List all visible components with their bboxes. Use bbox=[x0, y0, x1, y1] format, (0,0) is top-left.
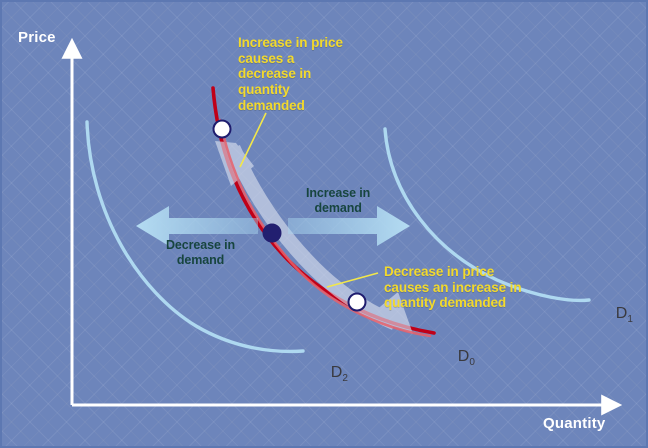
x-axis-label: Quantity bbox=[543, 415, 605, 432]
callout-decrease-in-price: Decrease in price causes an increase in … bbox=[384, 264, 521, 311]
curve-label-D1-sub: 1 bbox=[627, 314, 633, 325]
label-increase-in-demand: Increase in demand bbox=[306, 186, 370, 215]
point-lower bbox=[349, 294, 366, 311]
curve-label-D0-sub: 0 bbox=[469, 357, 475, 368]
y-axis-label: Price bbox=[18, 29, 56, 46]
label-decrease-in-demand: Decrease in demand bbox=[166, 238, 235, 267]
curve-label-D1-letter: D bbox=[616, 305, 628, 322]
point-equilibrium bbox=[263, 224, 281, 242]
point-upper bbox=[214, 121, 231, 138]
curve-label-D0-letter: D bbox=[458, 348, 470, 365]
leader-line-upper bbox=[240, 113, 266, 167]
demand-curve-figure: Price Quantity Increase in price causes … bbox=[0, 0, 648, 448]
callout-increase-in-price: Increase in price causes a decrease in q… bbox=[238, 35, 343, 113]
curve-label-D0: D0 bbox=[440, 329, 475, 387]
curve-label-D1: D1 bbox=[598, 286, 633, 344]
curve-label-D2-sub: 2 bbox=[342, 373, 348, 384]
curve-label-D2-letter: D bbox=[331, 364, 343, 381]
curve-label-D2: D2 bbox=[313, 345, 348, 403]
